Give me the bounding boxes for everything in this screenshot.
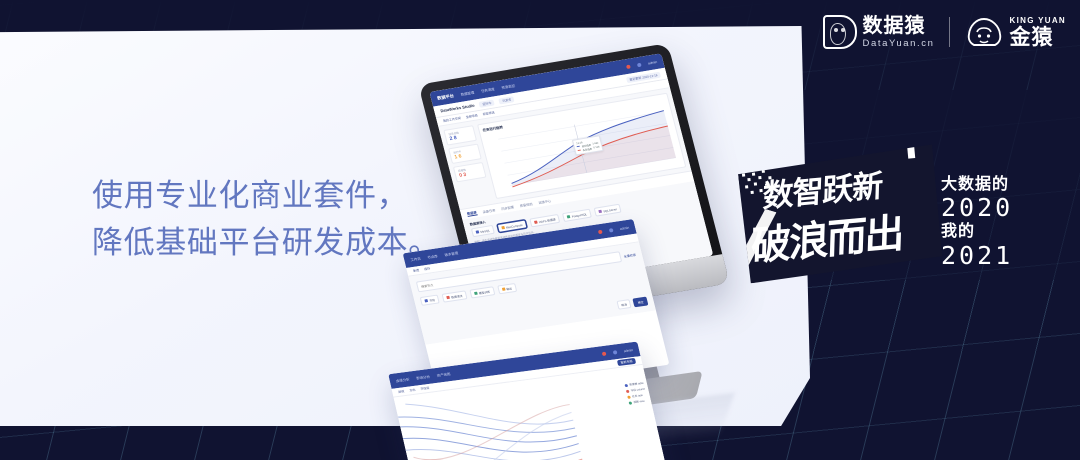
confirm-label: 确定 (637, 300, 644, 305)
node-label: 模型训练 (478, 289, 490, 295)
nav-item-1[interactable]: 节点库 (427, 253, 438, 259)
bell-icon[interactable] (601, 351, 606, 355)
workflow-node[interactable]: 数据清洗 (442, 290, 468, 302)
help-icon[interactable] (636, 62, 641, 67)
tab-ops-center[interactable]: 运维中心 (538, 198, 552, 205)
headline-line-1: 使用专业化商业套件， (92, 178, 408, 213)
stat-card[interactable]: 任务总数 2 8 (443, 125, 477, 145)
search-button[interactable]: 全量检索 (623, 252, 636, 258)
tooltip-series-value: 0 126 (593, 145, 600, 149)
nav-item-2[interactable]: 版本管理 (444, 250, 459, 257)
workflow-app: 工作流 节点库 版本管理 admin 新建 保存 全量检索 (403, 219, 656, 345)
datasource-node[interactable]: MySQL (471, 225, 495, 237)
bell-icon[interactable] (597, 229, 602, 233)
legend-label: 任务 task (632, 393, 644, 398)
campaign-year-block: 大数据的 2020 我的 2021 (941, 176, 1013, 271)
node-label: 开始 (429, 298, 436, 303)
node-label: SQLServer (603, 207, 618, 213)
save-button[interactable]: 保存 (424, 267, 431, 272)
year-value-2: 2021 (941, 242, 1013, 269)
year-label-1: 大数据的 (941, 176, 1013, 193)
relayout-button[interactable]: 重新布局 (617, 358, 636, 366)
cancel-button[interactable]: 取消 (616, 299, 632, 310)
logo-kingyuan-cn: 金猿 (1010, 27, 1066, 48)
legend-label: 字段 column (630, 387, 645, 393)
logo-datayuan[interactable]: 数据猿 DataYuan.cn (823, 15, 935, 49)
bell-icon[interactable] (626, 64, 631, 69)
nav-item-1[interactable]: 任务调度 (480, 86, 495, 93)
toolbar-chip-1[interactable]: 方向 (409, 388, 416, 393)
nav-user-label[interactable]: admin (647, 60, 657, 65)
logo-datayuan-cn: 数据猿 (863, 16, 935, 36)
status-badge-running: 运行中 (479, 99, 495, 107)
tab-sync-config[interactable]: 同步配置 (500, 204, 514, 211)
device-mockup: 数据平台 数据管理 任务调度 资源监控 admin DataWorks Stud… (432, 56, 762, 456)
banner-canvas: 使用专业化商业套件， 降低基础平台研发成本。 数据平台 数据管理 任务调度 资源… (0, 0, 1080, 460)
nav-item-0[interactable]: 血缘分析 (395, 377, 410, 384)
logo-datayuan-en: DataYuan.cn (863, 39, 935, 49)
logo-datayuan-text: 数据猿 DataYuan.cn (863, 16, 935, 49)
node-label: 数据清洗 (451, 293, 463, 299)
tab-datasource[interactable]: 数据源 (466, 210, 477, 217)
year-label-2: 我的 (941, 223, 1013, 240)
headline-line-2: 降低基础平台研发成本。 (92, 225, 440, 260)
nav-user-label[interactable]: admin (623, 348, 633, 353)
stat-card[interactable]: 异常数 0 3 (453, 162, 487, 182)
datasource-node[interactable]: SQLServer (594, 204, 622, 217)
year-value-1: 2020 (941, 194, 1013, 221)
toolbar-chip-0[interactable]: 层级 (398, 389, 405, 394)
nav-item-0[interactable]: 数据管理 (460, 90, 475, 97)
logo-kingyuan-en: KING YUAN (1010, 17, 1066, 25)
nav-item-2[interactable]: 资源监控 (501, 83, 516, 90)
toolbar-chip-2[interactable]: 字段级 (420, 386, 430, 391)
app-brand: 数据平台 (436, 93, 454, 102)
logo-kingyuan[interactable]: KING YUAN 金猿 (964, 16, 1066, 48)
settings-icon[interactable] (608, 228, 613, 232)
nav-item-2[interactable]: 资产地图 (436, 371, 451, 378)
node-label: PostgreSQL (571, 212, 587, 218)
node-label: HDFS 数据源 (538, 217, 556, 224)
legend-label: 数据表 table (629, 381, 644, 387)
node-label: 输出 (506, 286, 513, 291)
toolbar-chip-2[interactable]: 标签筛选 (482, 111, 495, 117)
tab-collect-task[interactable]: 采集任务 (482, 207, 496, 214)
node-label: MySQL (480, 228, 490, 233)
new-button[interactable]: 新建 (413, 268, 420, 273)
stat-card[interactable]: 运行中 1 6 (448, 144, 482, 164)
datasource-node[interactable]: PostgreSQL (562, 209, 592, 222)
logo-kingyuan-text: KING YUAN 金猿 (1010, 17, 1066, 48)
workflow-node[interactable]: 输出 (497, 283, 517, 294)
gorilla-silhouette-icon (964, 16, 1004, 48)
workflow-node[interactable]: 模型训练 (469, 286, 495, 298)
tooltip-series-name: 失败任务 (582, 146, 592, 151)
datayuan-d-monogram-icon (823, 15, 857, 49)
confirm-button[interactable]: 确定 (633, 297, 649, 308)
nav-item-1[interactable]: 影响分析 (416, 374, 431, 381)
tab-quality-rule[interactable]: 质量规则 (519, 201, 533, 208)
logo-divider (949, 17, 950, 47)
status-badge-published: 已发布 (498, 96, 514, 104)
nav-user-label[interactable]: admin (619, 225, 629, 230)
node-label: MaxCompute (505, 223, 522, 230)
toolbar-chip-0[interactable]: 我的工作空间 (443, 116, 462, 123)
workflow-node[interactable]: 开始 (420, 295, 440, 306)
page-title: 使用专业化商业套件， 降低基础平台研发成本。 (92, 172, 440, 266)
logo-bar: 数据猿 DataYuan.cn KING YUAN 金猿 (823, 11, 1066, 53)
toolbar-chip-1[interactable]: 全部项目 (465, 113, 478, 119)
cancel-label: 取消 (621, 302, 628, 307)
nav-item-0[interactable]: 工作流 (410, 256, 421, 262)
share-icon[interactable] (612, 350, 617, 354)
